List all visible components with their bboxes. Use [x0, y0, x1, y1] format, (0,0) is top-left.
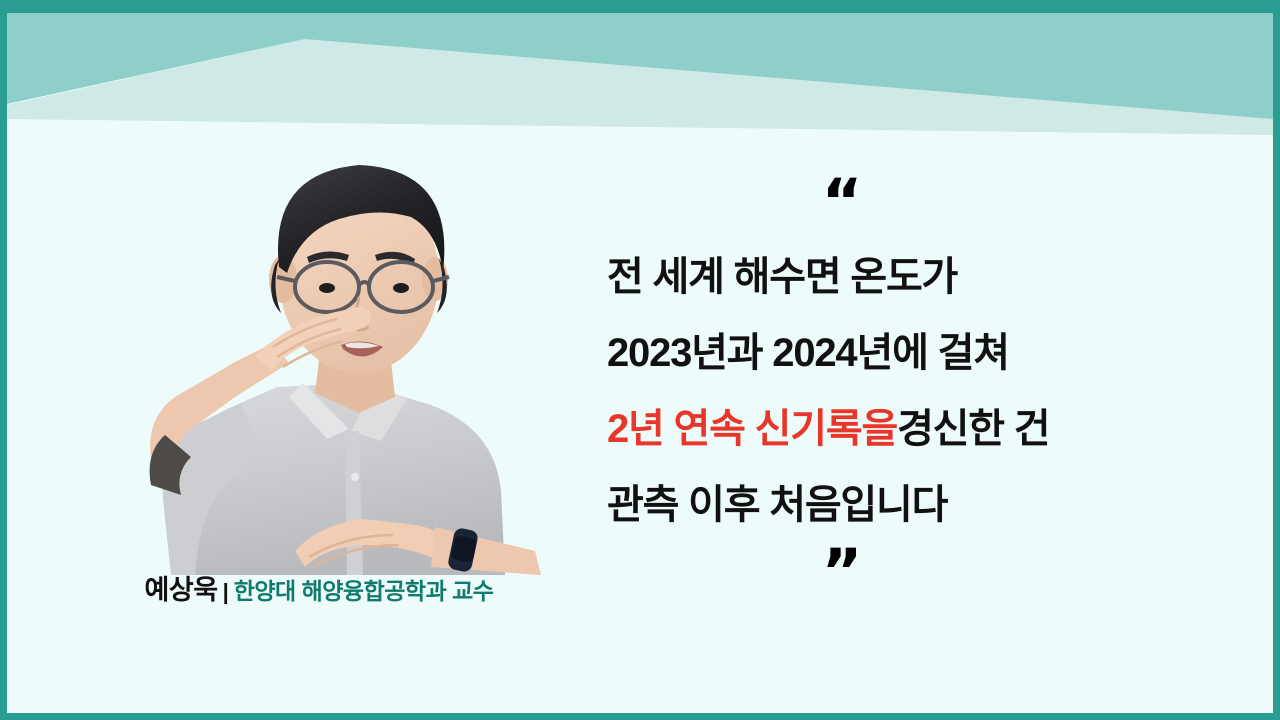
- eye-right: [393, 283, 409, 293]
- banner-main-wedge: [7, 7, 1273, 119]
- quote-line-4: 관측 이후 처음입니다: [607, 467, 1227, 543]
- quote-line-1: 전 세계 해수면 온도가: [607, 239, 1227, 315]
- quote-line-1-text: 전 세계 해수면 온도가: [607, 257, 957, 297]
- caption-separator: |: [218, 579, 234, 604]
- speaker-photo: [59, 147, 579, 575]
- shirt-button: [351, 473, 359, 481]
- speaker-name: 예상욱: [145, 575, 218, 605]
- banner-top-sliver: [7, 7, 1273, 13]
- close-quote-mark: ”: [607, 543, 1077, 605]
- quote-line-3-text: 경신한 건: [897, 409, 1049, 449]
- quote-line-3: 2년 연속 신기록을 경신한 건: [607, 391, 1227, 467]
- quote-line-3-highlight: 2년 연속 신기록을: [607, 409, 897, 449]
- header-banner-art: [7, 7, 1273, 167]
- banner-light-wedge: [7, 7, 1273, 135]
- quote-block: “ 전 세계 해수면 온도가 2023년과 2024년에 걸쳐 2년 연속 신기…: [607, 165, 1227, 605]
- quote-line-2-text: 2023년과 2024년에 걸쳐: [607, 333, 1009, 373]
- speaker-affiliation: 한양대 해양융합공학과 교수: [234, 578, 494, 604]
- quote-lines: 전 세계 해수면 온도가 2023년과 2024년에 걸쳐 2년 연속 신기록을…: [607, 239, 1227, 543]
- quote-line-4-text: 관측 이후 처음입니다: [607, 485, 947, 525]
- open-quote-mark: “: [607, 165, 1077, 231]
- speaker-caption: 예상욱|한양대 해양융합공학과 교수: [59, 577, 579, 604]
- quote-card: 예상욱|한양대 해양융합공학과 교수 “ 전 세계 해수면 온도가 2023년과…: [0, 0, 1280, 720]
- quote-line-2: 2023년과 2024년에 걸쳐: [607, 315, 1227, 391]
- portrait-illustration: [59, 147, 579, 575]
- eye-left: [319, 283, 335, 293]
